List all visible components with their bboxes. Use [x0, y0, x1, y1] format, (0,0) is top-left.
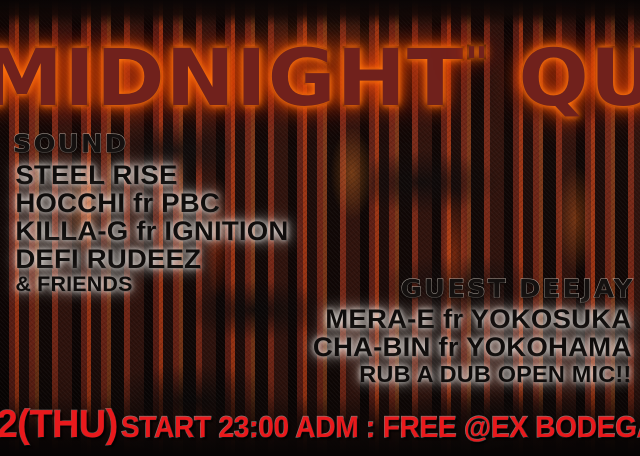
title-word-1: MIDNIGHT: [0, 33, 464, 125]
event-date: 12/2(THU): [0, 405, 118, 444]
title-word-2: QUAKE: [519, 33, 640, 125]
guest-deejay-section: GUEST DEEJAY MERA-E fr YOKOSUKA CHA-BIN …: [316, 274, 628, 386]
guest-deejay-header: GUEST DEEJAY: [309, 274, 634, 303]
event-flyer: MIDNIGHT" QUAKE SOUND STEEL RISE HOCCHI …: [0, 0, 640, 456]
sound-act: STEEL RISE: [15, 162, 288, 189]
sound-section: SOUND STEEL RISE HOCCHI fr PBC KILLA-G f…: [18, 129, 286, 296]
sound-header: SOUND: [13, 129, 291, 158]
guest-act: MERA-E fr YOKOSUKA: [313, 306, 632, 333]
flyer-title: MIDNIGHT" QUAKE: [0, 18, 640, 125]
sound-extra-acts: & FRIENDS: [15, 274, 288, 296]
event-details: START 23:00 ADM : FREE @EX BODEGA: [121, 413, 640, 443]
sound-act: KILLA-G fr IGNITION: [15, 218, 288, 245]
sound-act-list: STEEL RISE HOCCHI fr PBC KILLA-G fr IGNI…: [18, 162, 286, 296]
event-info-bar: 12/2(THU) START 23:00 ADM : FREE @EX BOD…: [0, 405, 640, 444]
sound-act: DEFI RUDEEZ: [15, 246, 288, 273]
guest-act: CHA-BIN fr YOKOHAMA: [313, 334, 632, 361]
sound-act: HOCCHI fr PBC: [15, 190, 288, 217]
title-tick-mark: ": [464, 38, 488, 89]
guest-tagline: RUB A DUB OPEN MIC!!: [313, 362, 632, 386]
guest-act-list: MERA-E fr YOKOSUKA CHA-BIN fr YOKOHAMA R…: [316, 306, 628, 386]
